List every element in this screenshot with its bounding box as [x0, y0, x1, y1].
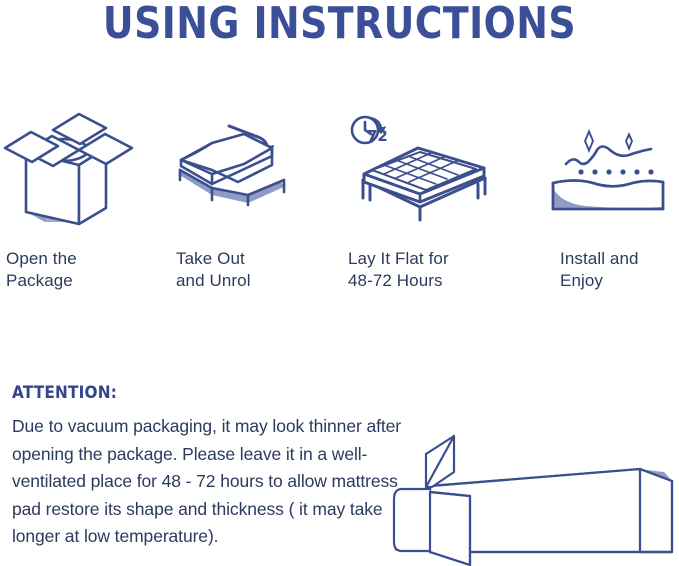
step-item-3: 72 — [340, 108, 510, 308]
instruction-sheet: USING INSTRUCTIONS — [0, 0, 679, 566]
open-box-with-roll-icon — [0, 108, 170, 228]
step-label-1: Open the Package — [6, 248, 77, 292]
attention-body-text: Due to vacuum packaging, it may look thi… — [12, 413, 412, 551]
long-open-carton-box-illustration — [392, 424, 679, 566]
step-label-4: Install and Enjoy — [560, 248, 639, 292]
page-title: USING INSTRUCTIONS — [48, 0, 632, 50]
step-item-2: Take Out and Unrol — [168, 108, 338, 308]
clock-hours-value: 72 — [367, 127, 388, 145]
step-item-1: Open the Package — [0, 108, 170, 308]
steps-row: Open the Package — [0, 108, 679, 308]
flat-mattress-clock-72-icon: 72 — [340, 108, 510, 228]
step-label-2: Take Out and Unrol — [176, 248, 251, 292]
unroll-mattress-arrow-icon — [168, 108, 338, 228]
step-label-3: Lay It Flat for 48-72 Hours — [348, 248, 449, 292]
attention-heading: ATTENTION: — [12, 383, 117, 403]
mattress-pad-sparkles-icon — [545, 108, 679, 228]
step-item-4: Install and Enjoy — [545, 108, 679, 308]
